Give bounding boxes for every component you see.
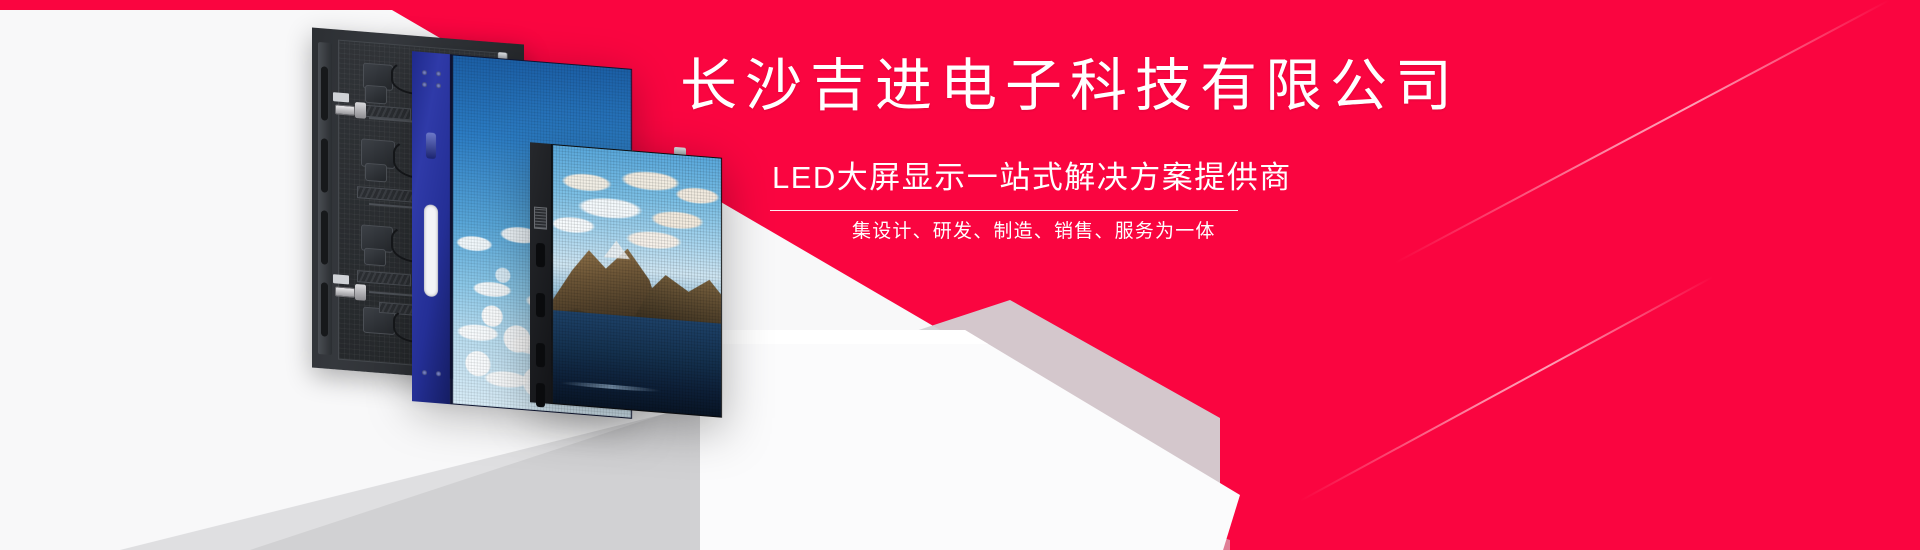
tagline-primary: LED大屏显示一站式解决方案提供商	[772, 162, 1292, 193]
copy-block: 长沙吉进电子科技有限公司 LED大屏显示一站式解决方案提供商 集设计、研发、制造…	[676, 0, 1920, 550]
panel-handle[interactable]	[424, 204, 438, 297]
hero-banner: 长沙吉进电子科技有限公司 LED大屏显示一站式解决方案提供商 集设计、研发、制造…	[0, 0, 1920, 550]
panel-connector-icon	[534, 207, 547, 230]
panel-black-frame	[530, 142, 552, 404]
tagline-secondary: 集设计、研发、制造、销售、服务为一体	[852, 222, 1216, 241]
panel-latch	[426, 132, 436, 159]
divider-rule	[770, 210, 1238, 211]
panel-blue-frame	[412, 51, 452, 404]
cabinet-rail	[318, 42, 332, 355]
water-reflection	[560, 380, 661, 393]
company-title: 长沙吉进电子科技有限公司	[680, 58, 1460, 115]
